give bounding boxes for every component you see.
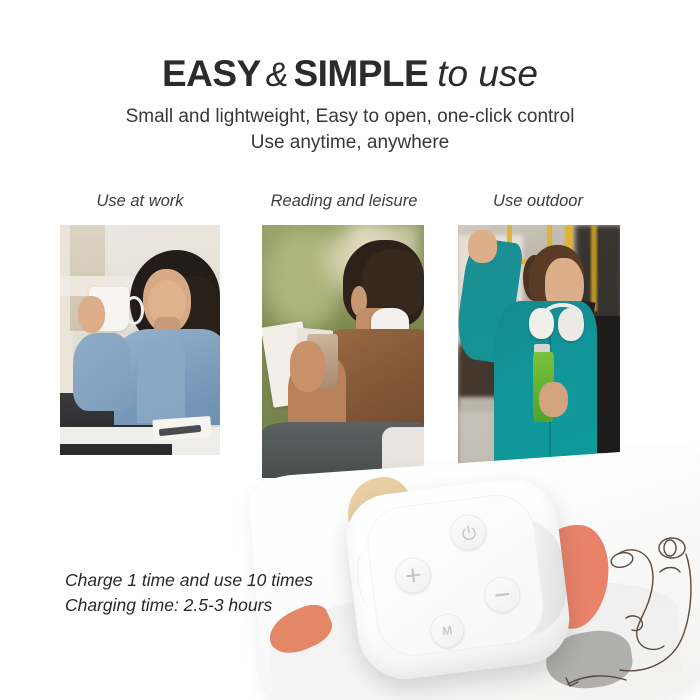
intensity-down-button[interactable] [482, 575, 522, 615]
neck-massager-device: M [341, 474, 574, 684]
headline-to-use: to use [428, 53, 538, 94]
minus-icon [492, 585, 512, 605]
subheading-line-2: Use anytime, anywhere [0, 130, 700, 156]
plus-icon [403, 565, 423, 585]
caption-use-outdoor: Use outdoor [456, 192, 620, 211]
photo-use-at-work [60, 225, 220, 455]
headline-ampersand: & [261, 56, 294, 94]
mode-button[interactable]: M [428, 612, 466, 650]
power-icon [459, 523, 478, 542]
caption-use-at-work: Use at work [60, 192, 220, 211]
subheading-line-1: Small and lightweight, Easy to open, one… [0, 104, 700, 130]
spec-line-charging-time: Charging time: 2.5-3 hours [65, 593, 313, 618]
power-button[interactable] [448, 512, 488, 552]
headline-easy: EASY [162, 53, 261, 94]
caption-reading-and-leisure: Reading and leisure [258, 192, 430, 211]
mode-icon: M [442, 624, 453, 637]
battery-spec-text: Charge 1 time and use 10 times Charging … [65, 568, 313, 618]
decor-line-art-face [560, 518, 700, 698]
product-infographic: EASY&SIMPLEto use Small and lightweight,… [0, 0, 700, 700]
spec-line-charge-count: Charge 1 time and use 10 times [65, 568, 313, 593]
headline-simple: SIMPLE [293, 53, 428, 94]
intensity-up-button[interactable] [393, 555, 433, 595]
subheading: Small and lightweight, Easy to open, one… [0, 104, 700, 156]
page-title: EASY&SIMPLEto use [0, 52, 700, 97]
device-control-panel: M [363, 491, 548, 660]
